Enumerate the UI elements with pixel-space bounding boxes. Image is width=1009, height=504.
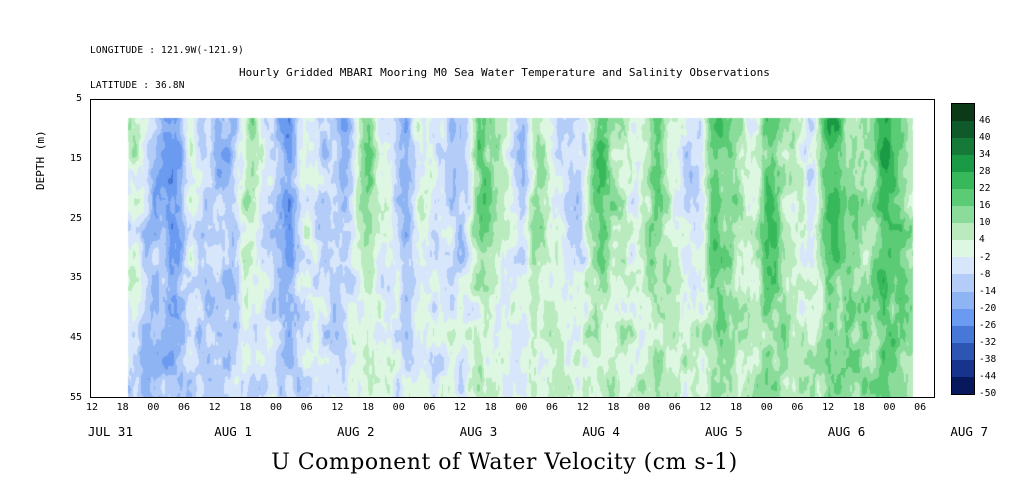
x-tick-label: 18 [479,402,503,413]
colorbar-tick-label: -38 [979,354,996,365]
x-tick-label: 12 [816,402,840,413]
colorbar-tick-label: -44 [979,371,996,382]
x-tick-label: 12 [448,402,472,413]
heatmap-image [91,100,934,397]
x-tick-label: 18 [724,402,748,413]
x-day-label: AUG 3 [433,424,523,439]
longitude-text: LONGITUDE : 121.9W(-121.9) [90,45,244,57]
colorbar-tick-label: 28 [979,166,990,177]
x-tick-label: 00 [141,402,165,413]
latitude-text: LATITUDE : 36.8N [90,80,244,92]
colorbar-segment [952,155,974,172]
colorbar-tick-label: 16 [979,200,990,211]
colorbar-segment [952,343,974,360]
x-tick-label: 06 [540,402,564,413]
x-tick-label: 00 [387,402,411,413]
x-tick-label: 06 [663,402,687,413]
colorbar-segment [952,274,974,291]
x-tick-label: 06 [417,402,441,413]
colorbar-tick-label: 46 [979,115,990,126]
colorbar-segment [952,240,974,257]
x-tick-label: 00 [264,402,288,413]
y-tick-label: 45 [56,332,82,343]
heatmap-canvas-wrap [91,100,934,397]
x-tick-label: 18 [847,402,871,413]
colorbar-tick-label: -32 [979,337,996,348]
colorbar-segment [952,309,974,326]
x-day-label: AUG 1 [188,424,278,439]
chart-title: Hourly Gridded MBARI Mooring M0 Sea Wate… [0,66,1009,79]
x-tick-label: 18 [356,402,380,413]
x-day-label: AUG 5 [679,424,769,439]
y-axis-title: DEPTH (m) [34,130,47,190]
x-day-label: AUG 4 [556,424,646,439]
x-tick-label: 00 [755,402,779,413]
x-tick-label: 12 [80,402,104,413]
x-tick-label: 06 [908,402,932,413]
x-day-label: AUG 2 [311,424,401,439]
x-tick-label: 12 [571,402,595,413]
x-tick-label: 12 [203,402,227,413]
colorbar-segment [952,138,974,155]
colorbar-segment [952,121,974,138]
colorbar-tick-label: 34 [979,149,990,160]
colorbar-tick-label: -8 [979,269,990,280]
colorbar-segment [952,377,974,394]
colorbar-segment [952,360,974,377]
y-tick-label: 25 [56,213,82,224]
x-tick-label: 12 [325,402,349,413]
x-tick-label: 00 [509,402,533,413]
x-tick-label: 00 [632,402,656,413]
colorbar-tick-label: -14 [979,286,996,297]
x-tick-label: 06 [295,402,319,413]
x-tick-label: 00 [877,402,901,413]
x-tick-label: 18 [601,402,625,413]
colorbar-tick-label: 22 [979,183,990,194]
colorbar-segment [952,326,974,343]
x-tick-label: 18 [111,402,135,413]
colorbar [951,103,975,395]
colorbar-tick-label: 4 [979,234,985,245]
colorbar-segment [952,292,974,309]
colorbar-segment [952,206,974,223]
y-tick-label: 5 [56,93,82,104]
colorbar-segment [952,257,974,274]
x-tick-label: 12 [693,402,717,413]
x-day-label: JUL 31 [65,424,155,439]
colorbar-tick-label: -20 [979,303,996,314]
y-tick-label: 35 [56,272,82,283]
colorbar-segment [952,172,974,189]
colorbar-segment [952,223,974,240]
colorbar-tick-label: 40 [979,132,990,143]
x-tick-label: 18 [233,402,257,413]
x-axis-title: U Component of Water Velocity (cm s-1) [0,450,1009,475]
x-tick-label: 06 [785,402,809,413]
colorbar-tick-label: 10 [979,217,990,228]
heatmap-plot-area [90,99,935,398]
colorbar-segment [952,189,974,206]
colorbar-tick-label: -2 [979,252,990,263]
x-tick-label: 06 [172,402,196,413]
colorbar-tick-label: -50 [979,388,996,399]
x-day-label: AUG 6 [802,424,892,439]
colorbar-segment [952,104,974,121]
x-day-label: AUG 7 [924,424,1009,439]
colorbar-tick-label: -26 [979,320,996,331]
y-tick-label: 15 [56,153,82,164]
y-tick-label: 55 [56,392,82,403]
